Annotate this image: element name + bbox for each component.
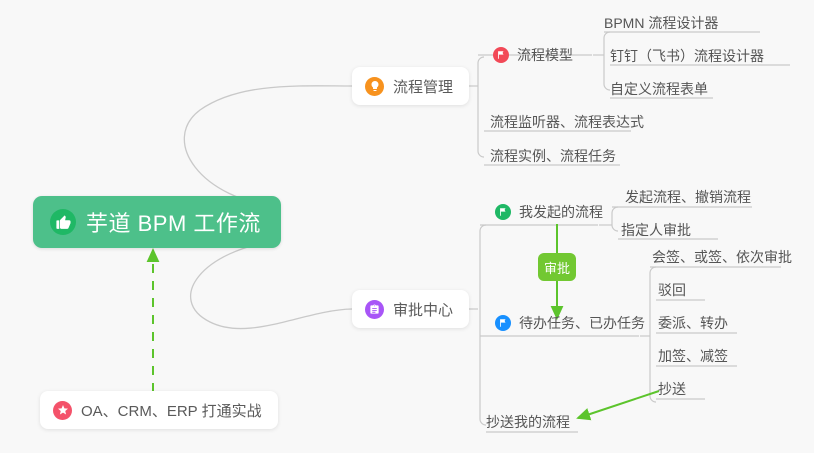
bracket-todo-done [650, 267, 656, 402]
lightbulb-icon [365, 77, 384, 96]
bracket-my-initiated [612, 207, 618, 231]
leaf-label: 抄送 [658, 382, 686, 396]
edge-root-to-process-management [184, 86, 352, 207]
node-process-management[interactable]: 流程管理 [352, 67, 469, 105]
leaf-delegate-transfer[interactable]: 委派、转办 [658, 310, 728, 336]
flag-icon [493, 47, 509, 63]
leaf-process-instance[interactable]: 流程实例、流程任务 [490, 143, 616, 169]
node-label: 审批中心 [393, 299, 453, 320]
thumbs-up-icon [50, 209, 76, 235]
leaf-label: 发起流程、撤销流程 [625, 190, 751, 204]
root-label: 芋道 BPM 工作流 [86, 206, 261, 238]
mindmap-canvas: 芋道 BPM 工作流 流程管理 流程模型 BPMN 流程设计器 钉钉（飞书）流程… [0, 0, 814, 453]
leaf-carbon-copy[interactable]: 抄送 [658, 376, 686, 402]
bracket-approval-center [480, 225, 486, 425]
leaf-reject[interactable]: 驳回 [658, 277, 686, 303]
leaf-label: 会签、或签、依次审批 [652, 250, 792, 264]
leaf-process-listener[interactable]: 流程监听器、流程表达式 [490, 109, 644, 135]
leaf-custom-form[interactable]: 自定义流程表单 [610, 76, 708, 102]
leaf-cc-to-me[interactable]: 抄送我的流程 [486, 409, 570, 435]
leaf-start-cancel-process[interactable]: 发起流程、撤销流程 [625, 184, 751, 210]
arrow-cc-flow [578, 391, 659, 418]
leaf-label: 驳回 [658, 283, 686, 297]
node-label: 流程模型 [517, 48, 573, 62]
leaf-label: 加签、减签 [658, 349, 728, 363]
leaf-label: 指定人审批 [621, 223, 691, 237]
bracket-process-management [478, 57, 484, 157]
leaf-countersign[interactable]: 会签、或签、依次审批 [652, 244, 792, 270]
node-approval-center[interactable]: 审批中心 [352, 290, 469, 328]
leaf-label: 抄送我的流程 [486, 415, 570, 429]
leaf-assignee-approval[interactable]: 指定人审批 [621, 217, 691, 243]
node-todo-done-tasks[interactable]: 待办任务、已办任务 [495, 310, 645, 336]
edge-root-to-approval-center [191, 240, 352, 329]
node-my-initiated[interactable]: 我发起的流程 [495, 199, 603, 225]
leaf-label: 流程监听器、流程表达式 [490, 115, 644, 129]
node-label: 待办任务、已办任务 [519, 316, 645, 330]
node-label: OA、CRM、ERP 打通实战 [81, 400, 262, 421]
leaf-label: 钉钉（飞书）流程设计器 [610, 49, 764, 63]
approval-badge: 审批 [538, 253, 576, 281]
flag-icon [495, 315, 511, 331]
node-label: 流程管理 [393, 76, 453, 97]
leaf-label: BPMN 流程设计器 [604, 16, 718, 30]
leaf-label: 流程实例、流程任务 [490, 149, 616, 163]
flag-icon [495, 204, 511, 220]
root-node[interactable]: 芋道 BPM 工作流 [33, 196, 281, 248]
badge-label: 审批 [544, 258, 570, 277]
leaf-label: 委派、转办 [658, 316, 728, 330]
leaf-bpmn-designer[interactable]: BPMN 流程设计器 [604, 10, 718, 36]
node-label: 我发起的流程 [519, 205, 603, 219]
star-icon [53, 401, 72, 420]
leaf-dingtalk-designer[interactable]: 钉钉（飞书）流程设计器 [610, 43, 764, 69]
leaf-add-remove-sign[interactable]: 加签、减签 [658, 343, 728, 369]
node-process-model[interactable]: 流程模型 [493, 42, 573, 68]
node-oa-crm-erp[interactable]: OA、CRM、ERP 打通实战 [40, 391, 278, 429]
leaf-label: 自定义流程表单 [610, 82, 708, 96]
clipboard-icon [365, 300, 384, 319]
